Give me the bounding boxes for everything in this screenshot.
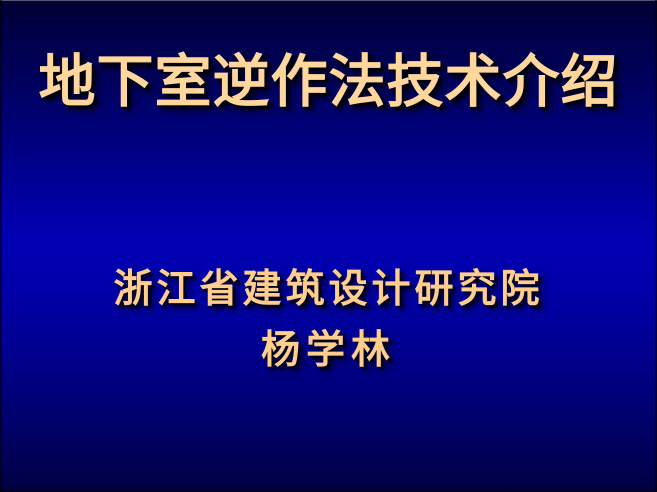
presentation-slide: 地下室逆作法技术介绍 浙江省建筑设计研究院 杨学林 <box>0 0 657 492</box>
slide-title: 地下室逆作法技术介绍 <box>39 52 619 112</box>
slide-top-edge-line <box>0 0 657 1</box>
subtitle-placeholder[interactable]: 浙江省建筑设计研究院 杨学林 <box>0 268 657 372</box>
title-placeholder[interactable]: 地下室逆作法技术介绍 <box>0 52 657 112</box>
organization-line: 浙江省建筑设计研究院 <box>0 268 657 312</box>
author-line: 杨学林 <box>0 329 657 373</box>
